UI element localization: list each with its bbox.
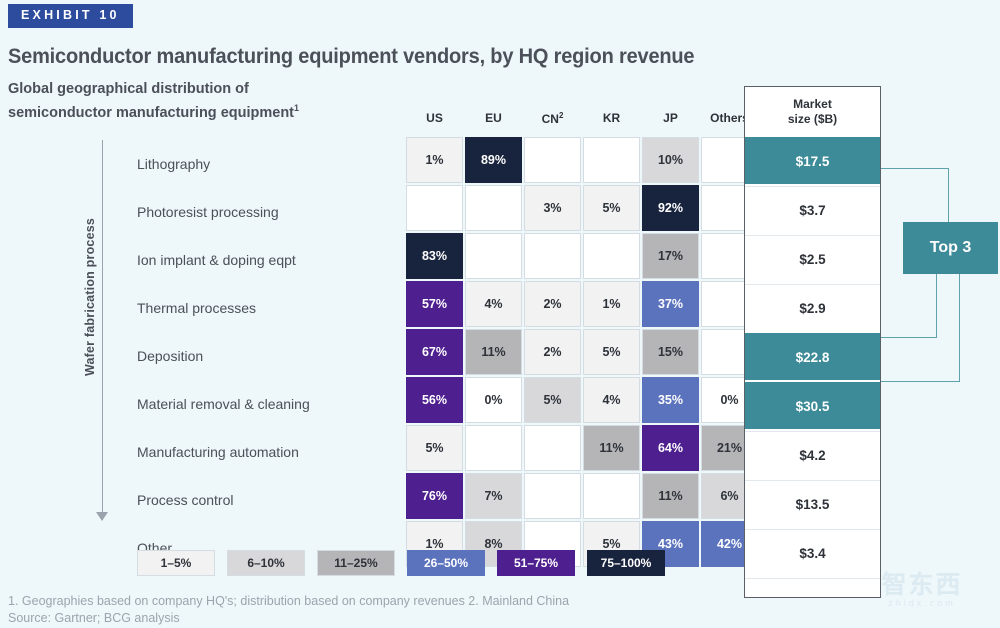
matrix-row: 1%89%10% (406, 137, 760, 183)
matrix-cell: 11% (642, 473, 699, 519)
matrix-cell: 35% (642, 377, 699, 423)
market-size-cell: $13.5 (745, 480, 880, 527)
legend-item: 75–100% (587, 550, 665, 576)
market-size-cell: $2.9 (745, 284, 880, 331)
legend-item: 6–10% (227, 550, 305, 576)
matrix-column-header-kr: KR (583, 103, 640, 125)
matrix-row: 83%17% (406, 233, 760, 279)
matrix-cell: 83% (406, 233, 463, 279)
matrix-body: 1%89%10%3%5%92%83%17%57%4%2%1%37%67%11%2… (406, 137, 760, 567)
share-legend: 1–5%6–10%11–25%26–50%51–75%75–100% (137, 550, 677, 576)
matrix-cell: 5% (524, 377, 581, 423)
connector-lithography-horizontal (881, 168, 949, 169)
matrix-cell: 3% (524, 185, 581, 231)
footnotes: 1. Geographies based on company HQ's; di… (8, 593, 569, 627)
connector-deposition-horizontal (881, 337, 937, 338)
matrix-cell: 56% (406, 377, 463, 423)
matrix-cell (465, 233, 522, 279)
legend-item: 1–5% (137, 550, 215, 576)
axis-line (102, 140, 103, 520)
page-title: Semiconductor manufacturing equipment ve… (8, 44, 694, 69)
process-row-label: Photoresist processing (137, 188, 402, 236)
market-size-cell: $4.2 (745, 431, 880, 478)
market-size-header-line-2: size ($B) (788, 112, 837, 126)
matrix-cell (583, 137, 640, 183)
matrix-cell: 2% (524, 281, 581, 327)
matrix-cell: 4% (465, 281, 522, 327)
matrix-cell: 1% (583, 281, 640, 327)
market-size-values: $17.5$3.7$2.5$2.9$22.8$30.5$4.2$13.5$3.4 (745, 137, 880, 576)
column-header-text: KR (603, 111, 620, 125)
matrix-row: 56%0%5%4%35%0% (406, 377, 760, 423)
connector-deposition-vertical (936, 273, 937, 338)
matrix-column-header-eu: EU (465, 103, 522, 125)
market-size-cell: $30.5 (745, 382, 880, 429)
column-header-footnote-marker: 2 (559, 111, 563, 120)
matrix-cell: 5% (406, 425, 463, 471)
market-size-cell: $3.7 (745, 186, 880, 233)
matrix-cell: 37% (642, 281, 699, 327)
legend-item: 51–75% (497, 550, 575, 576)
matrix-cell (583, 233, 640, 279)
matrix-cell (465, 185, 522, 231)
matrix-cell: 76% (406, 473, 463, 519)
matrix-row: 3%5%92% (406, 185, 760, 231)
column-header-text: US (426, 111, 443, 125)
matrix-cell: 0% (465, 377, 522, 423)
subtitle-footnote-marker: 1 (294, 103, 299, 113)
watermark-domain-text: zhidx.com (852, 598, 992, 608)
matrix-column-header-us: US (406, 103, 463, 125)
exhibit-badge: EXHIBIT 10 (8, 4, 133, 28)
footnote-line-1: 1. Geographies based on company HQ's; di… (8, 593, 569, 610)
process-row-label: Thermal processes (137, 284, 402, 332)
matrix-row: 76%7%11%6% (406, 473, 760, 519)
footnote-source-line: Source: Gartner; BCG analysis (8, 610, 569, 627)
process-row-label: Deposition (137, 332, 402, 380)
process-row-label-list: LithographyPhotoresist processingIon imp… (137, 140, 402, 572)
market-size-cell: $2.5 (745, 235, 880, 282)
process-row-label: Process control (137, 476, 402, 524)
market-size-column: Market size ($B) $17.5$3.7$2.5$2.9$22.8$… (744, 86, 881, 598)
axis-label-wafer-fabrication-process: Wafer fabrication process (83, 207, 97, 387)
wafer-process-axis: Wafer fabrication process (60, 140, 110, 530)
region-share-matrix: USEUCN2KRJPOthers 1%89%10%3%5%92%83%17%5… (406, 103, 760, 569)
matrix-cell: 17% (642, 233, 699, 279)
matrix-cell: 11% (465, 329, 522, 375)
matrix-row: 5%11%64%21% (406, 425, 760, 471)
matrix-column-header-row: USEUCN2KRJPOthers (406, 103, 760, 137)
legend-item: 26–50% (407, 550, 485, 576)
top3-callout: Top 3 (903, 222, 998, 274)
matrix-cell (406, 185, 463, 231)
connector-material-removal-horizontal (881, 381, 960, 382)
market-size-cell: $22.8 (745, 333, 880, 380)
subtitle-line-1: Global geographical distribution of (8, 81, 249, 97)
market-size-header: Market size ($B) (745, 87, 880, 137)
legend-item: 11–25% (317, 550, 395, 576)
matrix-cell: 2% (524, 329, 581, 375)
matrix-cell: 64% (642, 425, 699, 471)
column-header-text: JP (663, 111, 678, 125)
process-row-label: Lithography (137, 140, 402, 188)
matrix-column-header-cn: CN2 (524, 103, 581, 126)
matrix-cell (583, 473, 640, 519)
page-subtitle: Global geographical distribution of semi… (8, 80, 368, 123)
arrow-down-icon (96, 512, 108, 521)
connector-material-removal-vertical (959, 273, 960, 382)
matrix-row: 67%11%2%5%15% (406, 329, 760, 375)
matrix-column-header-jp: JP (642, 103, 699, 125)
matrix-cell: 10% (642, 137, 699, 183)
subtitle-line-2: semiconductor manufacturing equipment (8, 105, 294, 121)
matrix-cell: 5% (583, 329, 640, 375)
matrix-row: 57%4%2%1%37% (406, 281, 760, 327)
matrix-cell: 92% (642, 185, 699, 231)
matrix-cell: 1% (406, 137, 463, 183)
matrix-cell (524, 425, 581, 471)
matrix-cell: 57% (406, 281, 463, 327)
connector-lithography-vertical (948, 168, 949, 224)
matrix-cell (465, 425, 522, 471)
matrix-cell: 4% (583, 377, 640, 423)
matrix-cell (524, 233, 581, 279)
matrix-cell: 5% (583, 185, 640, 231)
matrix-cell: 67% (406, 329, 463, 375)
market-size-footer-spacer (745, 578, 880, 597)
matrix-cell (524, 473, 581, 519)
exhibit-page: EXHIBIT 10 Semiconductor manufacturing e… (0, 0, 1000, 628)
matrix-cell (524, 137, 581, 183)
process-row-label: Ion implant & doping eqpt (137, 236, 402, 284)
column-header-text: CN (542, 112, 559, 126)
process-row-label: Material removal & cleaning (137, 380, 402, 428)
matrix-cell: 7% (465, 473, 522, 519)
column-header-text: EU (485, 111, 502, 125)
market-size-cell: $17.5 (745, 137, 880, 184)
matrix-cell: 11% (583, 425, 640, 471)
matrix-cell: 89% (465, 137, 522, 183)
matrix-cell: 15% (642, 329, 699, 375)
process-row-label: Manufacturing automation (137, 428, 402, 476)
market-size-cell: $3.4 (745, 529, 880, 576)
market-size-header-line-1: Market (793, 97, 832, 111)
